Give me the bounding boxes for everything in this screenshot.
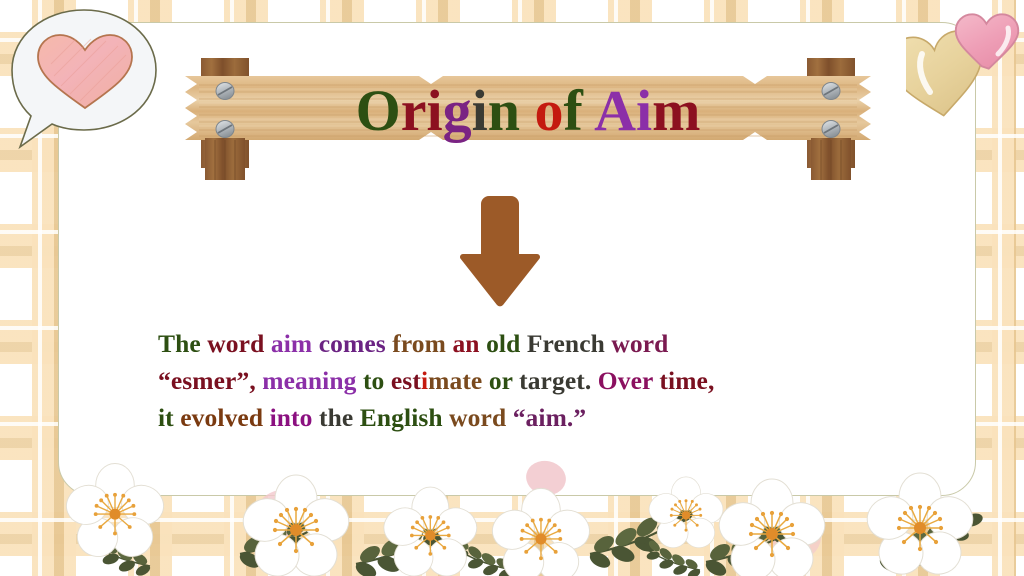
page-title: Origin of Aim [356, 78, 701, 143]
floral-border [0, 458, 1024, 576]
body-paragraph: The word aim comes from an old French wo… [158, 325, 878, 436]
body-segment: word [611, 329, 668, 358]
body-segment: mate [428, 366, 489, 395]
body-segment: The [158, 329, 207, 358]
body-segment: evolved [180, 403, 269, 432]
body-segment: aim [271, 329, 319, 358]
body-segment: English [360, 403, 449, 432]
body-segment: to [363, 366, 391, 395]
screw-icon [822, 83, 840, 100]
body-segment: French [527, 329, 612, 358]
body-segment: old [486, 329, 527, 358]
body-segment: or [489, 366, 519, 395]
body-segment: word [207, 329, 271, 358]
screw-icon [216, 121, 234, 138]
screw-icon [216, 83, 234, 100]
body-segment: meaning [262, 366, 363, 395]
heart-decorations [906, 6, 1024, 124]
speech-bubble-heart [6, 4, 164, 154]
body-segment: an [452, 329, 486, 358]
wooden-signboard: Origin of Aim [183, 58, 873, 176]
body-segment: comes [319, 329, 393, 358]
body-line: it evolved into the English word “aim.” [158, 399, 878, 436]
screw-icon [822, 121, 840, 138]
body-segment: target. [519, 366, 598, 395]
body-segment: into [270, 403, 319, 432]
body-segment: Over [598, 366, 660, 395]
body-segment: “aim.” [513, 403, 587, 432]
body-segment: “esmer”, [158, 366, 262, 395]
body-segment: word [449, 403, 513, 432]
body-segment: the [319, 403, 360, 432]
body-line: The word aim comes from an old French wo… [158, 325, 878, 362]
body-segment: from [392, 329, 452, 358]
body-segment: it [158, 403, 180, 432]
body-line: “esmer”, meaning to estimate or target. … [158, 362, 878, 399]
arrow-down-icon [455, 192, 545, 310]
slide-canvas: Origin of Aim The word aim comes from an… [0, 0, 1024, 576]
body-segment: time, [659, 366, 714, 395]
body-segment: est [391, 366, 421, 395]
